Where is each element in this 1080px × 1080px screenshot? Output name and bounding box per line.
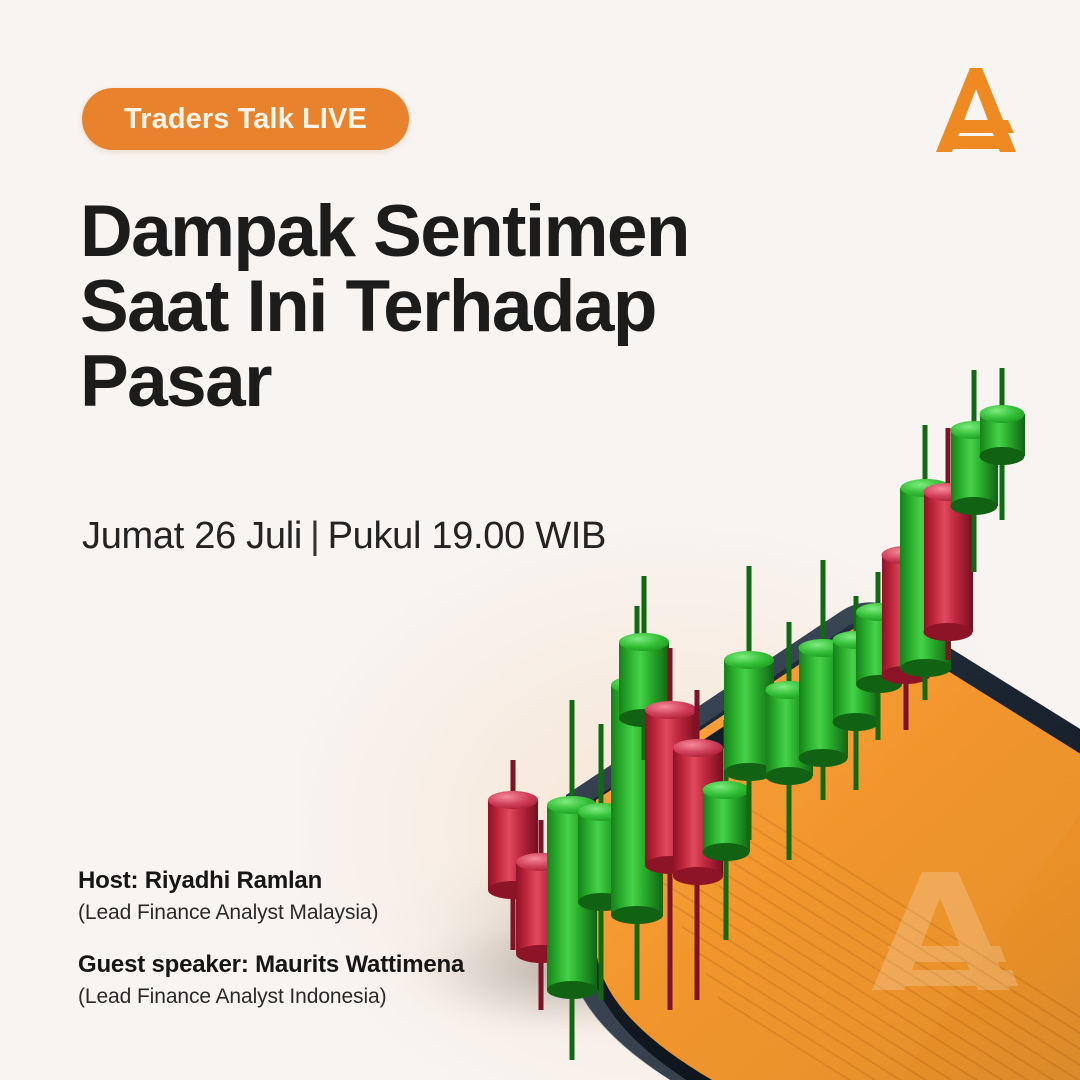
- schedule-line: Jumat 26 Juli|Pukul 19.00 WIB: [82, 515, 606, 558]
- candlestick-series: [488, 368, 1025, 1060]
- candle-8-bearish: [673, 690, 723, 1000]
- page-title: Dampak Sentimen Saat Ini Terhadap Pasar: [80, 194, 820, 420]
- headline-line-3: Pasar: [80, 344, 820, 419]
- headline-line-2: Saat Ini Terhadap: [80, 269, 820, 344]
- credits-block: Host: Riyadhi Ramlan (Lead Finance Analy…: [78, 866, 464, 1011]
- credit-guest: Guest speaker: Maurits Wattimena (Lead F…: [78, 950, 464, 1010]
- candle-10-bullish: [724, 566, 774, 840]
- screen-watermark-logo: [872, 872, 1018, 990]
- candle-16-bullish: [900, 425, 952, 700]
- candle-9-bullish: [703, 720, 751, 940]
- host-name: Host: Riyadhi Ramlan: [78, 866, 464, 896]
- host-role: (Lead Finance Analyst Malaysia): [78, 899, 464, 926]
- promo-poster: Traders Talk LIVE Dampak Sentimen Saat I…: [0, 0, 1080, 1080]
- candle-2-bearish: [516, 820, 566, 1010]
- guest-role: (Lead Finance Analyst Indonesia): [78, 983, 464, 1010]
- candle-7-bearish: [645, 648, 697, 1010]
- candle-11-bullish: [766, 622, 814, 860]
- candle-1-bearish: [488, 760, 538, 950]
- candle-5-bullish: [611, 606, 663, 1000]
- schedule-separator: |: [302, 515, 328, 558]
- headline-line-1: Dampak Sentimen: [80, 194, 820, 269]
- guest-name: Guest speaker: Maurits Wattimena: [78, 950, 464, 980]
- candle-19-bullish: [980, 368, 1026, 520]
- anchorage-a-logo: [930, 62, 1022, 158]
- smartphone: [560, 602, 1080, 1080]
- candle-4-bullish: [578, 724, 626, 1000]
- candle-3-bullish: [547, 700, 597, 1060]
- live-badge[interactable]: Traders Talk LIVE: [82, 88, 409, 150]
- credit-host: Host: Riyadhi Ramlan (Lead Finance Analy…: [78, 866, 464, 926]
- live-badge-label: Traders Talk LIVE: [124, 103, 367, 136]
- candle-12-bullish: [799, 560, 849, 800]
- candle-15-bearish: [882, 487, 932, 730]
- candle-18-bullish: [951, 370, 999, 572]
- candle-17-bearish: [924, 428, 974, 660]
- schedule-date: Jumat 26 Juli: [82, 515, 302, 557]
- candle-14-bullish: [856, 572, 902, 740]
- candle-6-bullish: [619, 576, 669, 760]
- candle-13-bullish: [833, 596, 881, 790]
- schedule-time: Pukul 19.00 WIB: [328, 515, 607, 557]
